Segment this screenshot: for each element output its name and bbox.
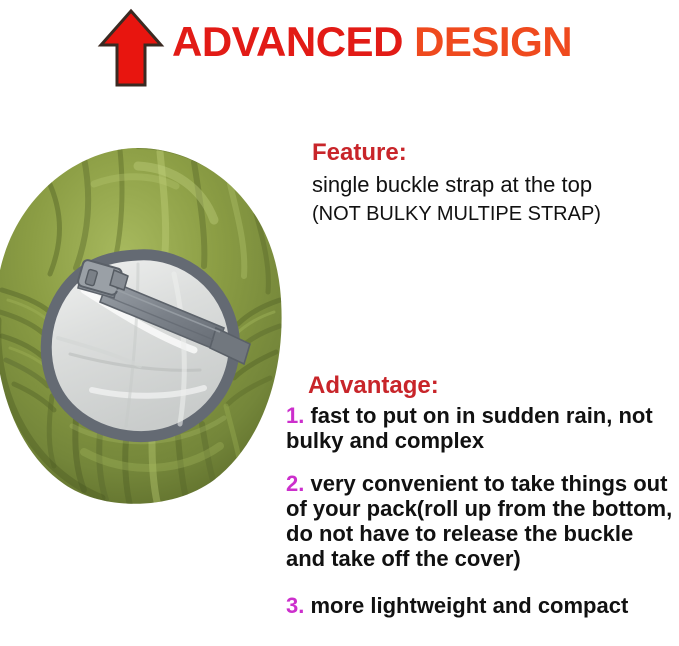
headline-word-design: DESIGN — [414, 18, 572, 65]
advantage-item-number: 3. — [286, 593, 304, 618]
advantage-block: Advantage: 1. fast to put on in sudden r… — [282, 371, 674, 618]
advantage-list-item: 2. very convenient to take things out of… — [282, 471, 674, 571]
header-banner: ADVANCED DESIGN — [0, 0, 679, 95]
advantage-item-text: more lightweight and compact — [310, 593, 628, 618]
advantage-item-number: 2. — [286, 471, 304, 496]
advantage-list-item: 3. more lightweight and compact — [282, 593, 674, 618]
advantage-item-text: fast to put on in sudden rain, not bulky… — [286, 403, 653, 453]
up-arrow-icon — [97, 8, 165, 88]
advantage-list-item: 1. fast to put on in sudden rain, not bu… — [282, 403, 674, 453]
advantage-heading: Advantage: — [282, 371, 674, 401]
backpack-rain-cover-photo — [0, 140, 293, 510]
feature-sub-text: (NOT BULKY MULTIPE STRAP) — [306, 200, 672, 228]
feature-block: Feature: single buckle strap at the top … — [306, 138, 672, 228]
advantage-item-number: 1. — [286, 403, 304, 428]
headline-word-advanced: ADVANCED — [172, 18, 403, 65]
page-title: ADVANCED DESIGN — [172, 18, 572, 66]
advantage-item-text: very convenient to take things out of yo… — [286, 471, 672, 571]
feature-heading: Feature: — [306, 138, 672, 168]
feature-main-text: single buckle strap at the top — [306, 170, 672, 200]
product-feature-infographic: ADVANCED DESIGN — [0, 0, 679, 646]
